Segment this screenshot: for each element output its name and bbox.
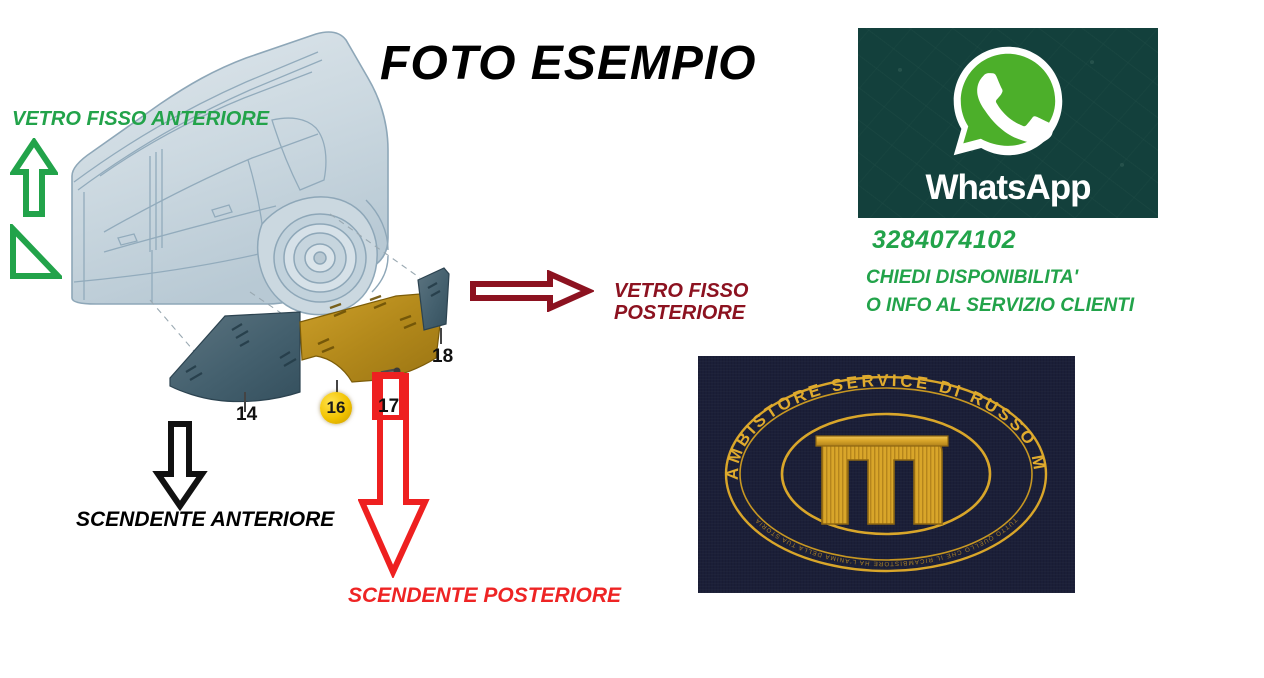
label-scendente-posteriore: SCENDENTE POSTERIORE (348, 584, 621, 608)
contact-line-1: CHIEDI DISPONIBILITA' (866, 267, 1078, 288)
label-vetro-fisso-posteriore-line1: VETRO FISSO (614, 280, 748, 302)
whatsapp-phone-bubble-icon (949, 42, 1067, 160)
poster-canvas: FOTO ESEMPIO VETRO FISSO ANTERIORE VETRO… (0, 0, 1264, 678)
mricambistore-logo: MRICAMBISTORE SERVICE DI RUSSO MARCO TUT… (698, 356, 1075, 593)
part-number-16-label: 16 (320, 392, 352, 424)
shop-logo-banner: MRICAMBISTORE SERVICE DI RUSSO MARCO TUT… (698, 356, 1075, 593)
label-vetro-fisso-posteriore: VETRO FISSO POSTERIORE (614, 280, 748, 325)
label-vetro-fisso-anteriore: VETRO FISSO ANTERIORE (12, 108, 269, 130)
page-title: FOTO ESEMPIO (380, 36, 800, 91)
arrow-down-black-icon (152, 420, 208, 512)
label-vetro-fisso-posteriore-line2: POSTERIORE (614, 302, 748, 324)
whatsapp-phone-number[interactable]: 3284074102 (872, 226, 1016, 255)
label-scendente-anteriore: SCENDENTE ANTERIORE (76, 508, 334, 532)
glass-panel-14 (170, 312, 300, 402)
part-number-16-badge: 16 (320, 392, 352, 424)
whatsapp-wordmark: WhatsApp (858, 168, 1158, 208)
arrow-up-green-icon (10, 138, 58, 220)
glass-panel-18 (418, 268, 449, 330)
part-number-18: 18 (432, 346, 453, 368)
part-number-17: 17 (378, 396, 399, 418)
arrow-right-darkred-icon (468, 270, 594, 312)
part-number-14: 14 (236, 404, 257, 426)
triangle-green-icon (8, 224, 62, 284)
whatsapp-banner: WhatsApp (858, 28, 1158, 218)
contact-line-2: O INFO AL SERVIZIO CLIENTI (866, 295, 1134, 316)
rear-wheel (258, 197, 377, 315)
logo-monogram (816, 436, 948, 524)
